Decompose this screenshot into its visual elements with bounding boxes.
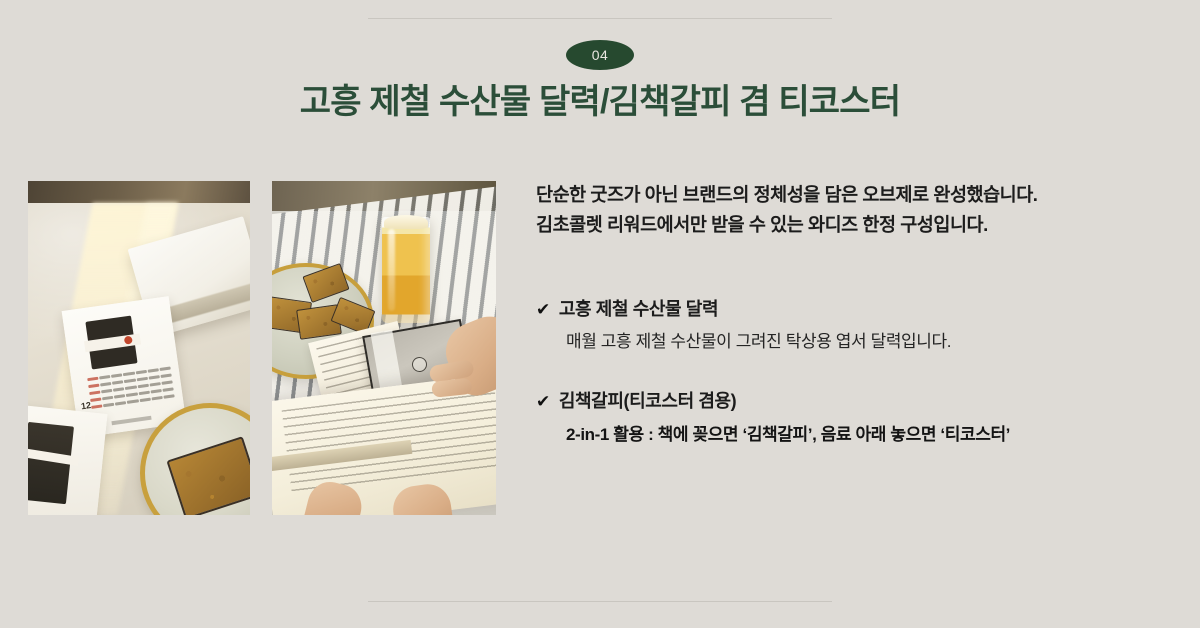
slide-root: 04 고흥 제철 수산물 달력/김책갈피 겸 티코스터 bbox=[0, 0, 1200, 628]
glass-highlight bbox=[388, 229, 395, 311]
list-item: ✔ 고흥 제철 수산물 달력 매월 고흥 제철 수산물이 그려진 탁상용 엽서 … bbox=[536, 298, 1160, 354]
feature-heading-row: ✔ 김책갈피(티코스터 겸용) bbox=[536, 390, 1160, 413]
feature-heading-row: ✔ 고흥 제철 수산물 달력 bbox=[536, 298, 1160, 321]
feature-title: 고흥 제철 수산물 달력 bbox=[559, 298, 718, 321]
feature-description: 매월 고흥 제철 수산물이 그려진 탁상용 엽서 달력입니다. bbox=[566, 330, 1160, 354]
content-column: 단순한 굿즈가 아닌 브랜드의 정체성을 담은 오브제로 완성했습니다. 김초콜… bbox=[536, 180, 1160, 446]
lead-paragraph: 단순한 굿즈가 아닌 브랜드의 정체성을 담은 오브제로 완성했습니다. 김초콜… bbox=[536, 180, 1160, 240]
section-number-badge: 04 bbox=[566, 40, 634, 70]
slide-header: 04 고흥 제철 수산물 달력/김책갈피 겸 티코스터 bbox=[0, 40, 1200, 123]
calendar-month-label: 12 bbox=[80, 400, 91, 411]
feature-title: 김책갈피(티코스터 겸용) bbox=[559, 390, 736, 413]
feature-list: ✔ 고흥 제철 수산물 달력 매월 고흥 제철 수산물이 그려진 탁상용 엽서 … bbox=[536, 298, 1160, 446]
secondary-card bbox=[28, 404, 107, 515]
beer-foam bbox=[384, 215, 428, 229]
calendar-footer-text bbox=[111, 416, 151, 426]
page-title: 고흥 제철 수산물 달력/김책갈피 겸 티코스터 bbox=[0, 82, 1200, 123]
lead-line-1: 단순한 굿즈가 아닌 브랜드의 정체성을 담은 오브제로 완성했습니다. bbox=[536, 180, 1160, 210]
list-item: ✔ 김책갈피(티코스터 겸용) 2-in-1 활용 : 책에 꽂으면 ‘김책갈피… bbox=[536, 390, 1160, 446]
check-icon: ✔ bbox=[536, 301, 550, 318]
divider-bottom bbox=[368, 601, 832, 602]
check-icon: ✔ bbox=[536, 393, 550, 410]
lead-line-2: 김초콜렛 리워드에서만 받을 수 있는 와디즈 한정 구성입니다. bbox=[536, 210, 1160, 240]
feature-description: 2-in-1 활용 : 책에 꽂으면 ‘김책갈피’, 음료 아래 놓으면 ‘티코… bbox=[566, 423, 1160, 447]
photo-calendar: 12 bbox=[28, 181, 250, 515]
divider-top bbox=[368, 18, 832, 19]
photo-bookmark bbox=[272, 181, 496, 515]
calendar-date-grid bbox=[87, 367, 176, 420]
